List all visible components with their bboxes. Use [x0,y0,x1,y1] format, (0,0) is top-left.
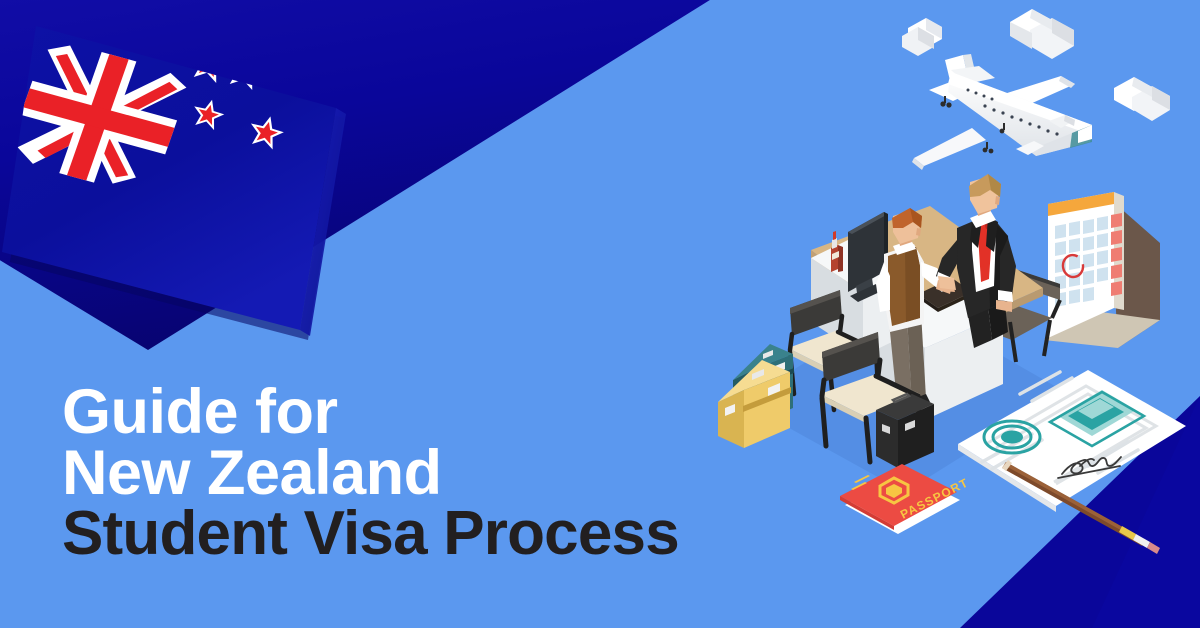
bottle [831,231,843,272]
passport: PASSPORT [840,464,971,534]
certificate [958,370,1186,512]
calendar [1044,192,1160,348]
headline-line-1: Guide for [62,382,782,443]
handshake [938,276,956,290]
headline-block: Guide for New Zealand Student Visa Proce… [62,382,782,564]
headline-line-2: New Zealand [62,443,782,504]
cloud-top [1010,9,1074,59]
calendar-weekend-column [1111,213,1122,296]
airplane [912,54,1092,170]
headline-line-3: Student Visa Process [62,504,782,564]
certificate-seal [984,421,1040,453]
banner-canvas: PASSPORT [0,0,1200,628]
cloud-right [1114,77,1170,121]
cloud-left [902,18,942,56]
